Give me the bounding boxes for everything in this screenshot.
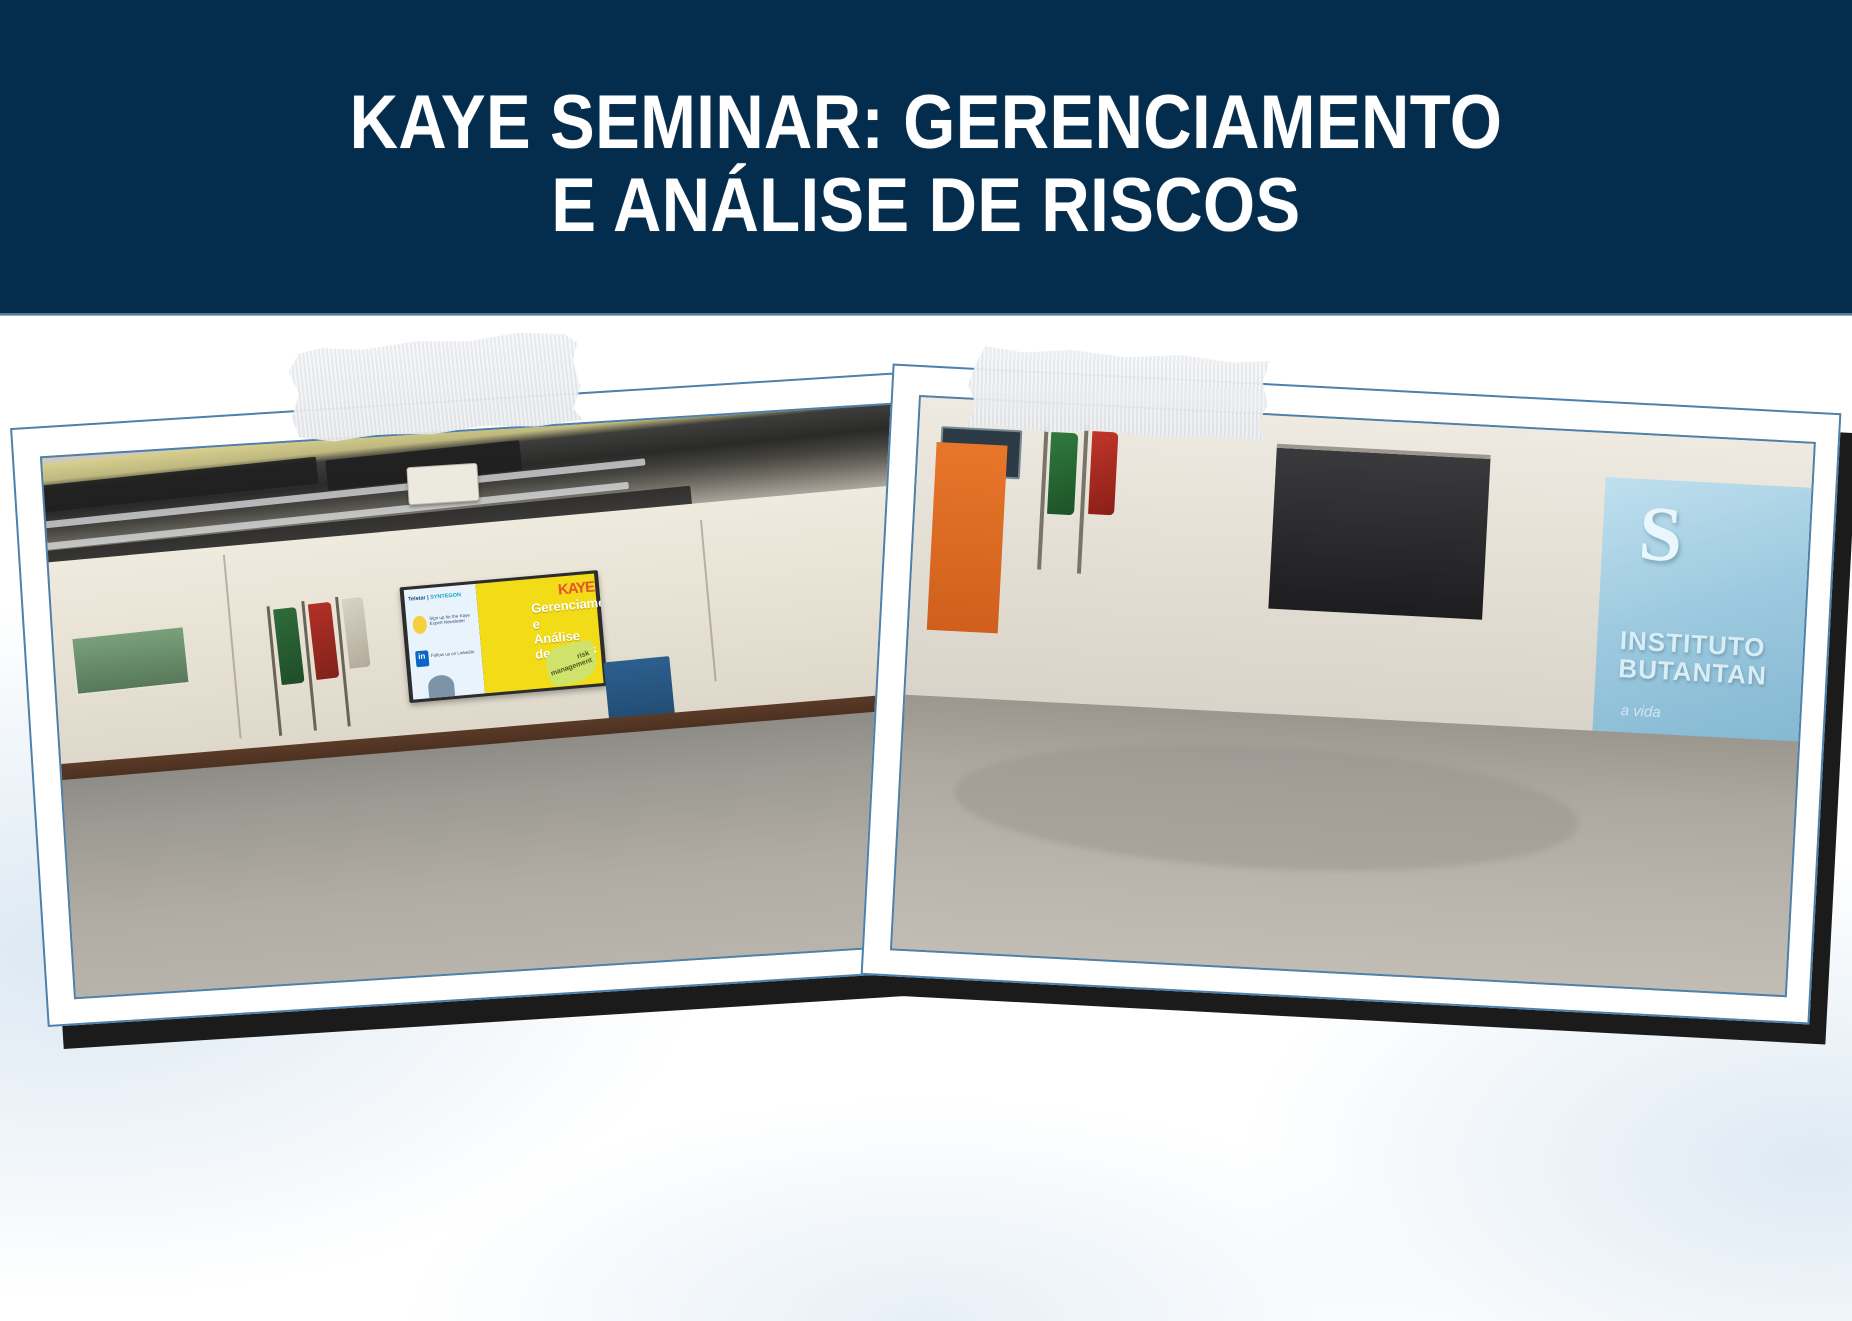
right-photo-card[interactable]: S INSTITUTO BUTANTAN a vida — [861, 364, 1842, 1025]
slide-right-panel: KAYE Gerenciamento e Análise de Riscos m… — [475, 573, 604, 692]
wall-logo-text: INSTITUTO BUTANTAN — [1618, 627, 1813, 692]
ceiling-projector — [406, 463, 479, 505]
slide-brand-row: Telstar | SYNTEGON — [407, 591, 473, 603]
slide-brand-separator: | — [426, 594, 428, 600]
empty-chair — [652, 840, 775, 977]
page-title-line-1: KAYE SEMINAR: GERENCIAMENTO — [350, 80, 1503, 165]
slide-brand-primary: Telstar — [407, 595, 425, 603]
left-photo-image: Telstar | SYNTEGON Sign up for the Kaye … — [40, 400, 961, 999]
linkedin-icon: in — [414, 649, 428, 666]
empty-chair — [88, 897, 211, 999]
page-title-line-2: E ANÁLISE DE RISCOS — [350, 165, 1503, 247]
slide-speaker-photo — [427, 673, 455, 697]
slide-brand-secondary: SYNTEGON — [430, 592, 461, 601]
slide-kaye-logo: KAYE — [557, 578, 595, 598]
empty-chair — [1186, 842, 1309, 986]
slide-headline-line-1: Gerenciamento e — [530, 593, 607, 631]
empty-chair — [1043, 835, 1166, 979]
slide-linkedin-caption: Follow us on LinkedIn — [430, 648, 476, 658]
header-banner: KAYE SEMINAR: GERENCIAMENTO E ANÁLISE DE… — [0, 0, 1852, 315]
wall-artwork — [70, 625, 191, 696]
empty-chair — [511, 854, 634, 991]
empty-chair — [900, 822, 1023, 966]
left-photo-scene: Telstar | SYNTEGON Sign up for the Kaye … — [42, 403, 959, 998]
page-title: KAYE SEMINAR: GERENCIAMENTO E ANÁLISE DE… — [350, 68, 1503, 246]
right-photo-scene: S INSTITUTO BUTANTAN a vida — [892, 397, 1814, 995]
wall-logo-panel: S INSTITUTO BUTANTAN a vida — [1591, 477, 1816, 775]
slide-qr-caption: Sign up for the Kaye Expert Newsletter — [428, 611, 473, 626]
slide-qr-badge — [411, 614, 427, 634]
presentation-screen: Telstar | SYNTEGON Sign up for the Kaye … — [399, 570, 607, 703]
left-photo-card[interactable]: Telstar | SYNTEGON Sign up for the Kaye … — [10, 369, 987, 1027]
right-photo-image: S INSTITUTO BUTANTAN a vida — [890, 395, 1816, 997]
empty-chair — [1615, 854, 1738, 997]
empty-chair — [1472, 852, 1595, 996]
wall-logo-tagline: a vida — [1620, 702, 1661, 721]
empty-chair — [1329, 850, 1452, 994]
orange-wall-panel — [927, 442, 1008, 633]
slide-left-panel: Telstar | SYNTEGON Sign up for the Kaye … — [403, 584, 484, 699]
wall-logo-monogram: S — [1635, 502, 1779, 624]
header-bottom-rule — [0, 313, 1852, 316]
projection-screen — [1268, 443, 1491, 620]
flag-brazil — [1047, 432, 1078, 516]
empty-chair — [370, 869, 493, 1000]
flag-sao-paulo — [1088, 431, 1119, 515]
empty-chair — [229, 883, 352, 999]
wall-logo-line-2: BUTANTAN — [1618, 653, 1768, 691]
